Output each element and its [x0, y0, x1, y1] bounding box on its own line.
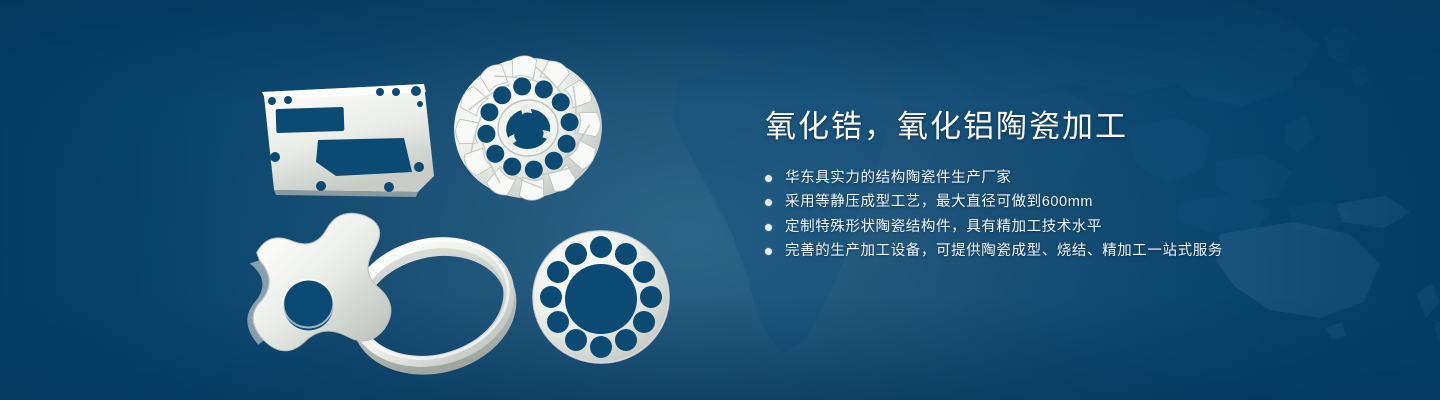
- product-ceramic-plate: [262, 84, 434, 197]
- bullet-dot-icon: [765, 175, 772, 182]
- bullet-dot-icon: [765, 199, 772, 206]
- list-item: 华东具实力的结构陶瓷件生产厂家: [765, 171, 1385, 186]
- product-ceramic-hole-ring: [533, 231, 669, 363]
- banner-copy: 氧化锆，氧化铝陶瓷加工 华东具实力的结构陶瓷件生产厂家 采用等静压成型工艺，最大…: [765, 108, 1385, 269]
- feature-text: 采用等静压成型工艺，最大直径可做到600mm: [785, 195, 1093, 210]
- list-item: 完善的生产加工设备，可提供陶瓷成型、烧结、精加工一站式服务: [765, 244, 1385, 259]
- bullet-dot-icon: [765, 248, 772, 255]
- ceramic-product-collage: [0, 0, 720, 400]
- ceramic-products-banner: 氧化锆，氧化铝陶瓷加工 华东具实力的结构陶瓷件生产厂家 采用等静压成型工艺，最大…: [0, 0, 1440, 400]
- feature-text: 定制特殊形状陶瓷结构件，具有精加工技术水平: [785, 220, 1102, 235]
- feature-text: 完善的生产加工设备，可提供陶瓷成型、烧结、精加工一站式服务: [785, 244, 1223, 259]
- product-ceramic-cross-plate: [237, 210, 394, 354]
- feature-text: 华东具实力的结构陶瓷件生产厂家: [785, 171, 1012, 186]
- product-ceramic-impeller: [445, 46, 612, 210]
- list-item: 定制特殊形状陶瓷结构件，具有精加工技术水平: [765, 220, 1385, 235]
- bullet-dot-icon: [765, 224, 772, 231]
- list-item: 采用等静压成型工艺，最大直径可做到600mm: [765, 195, 1385, 210]
- page-title: 氧化锆，氧化铝陶瓷加工: [765, 108, 1385, 147]
- feature-list: 华东具实力的结构陶瓷件生产厂家 采用等静压成型工艺，最大直径可做到600mm 定…: [765, 171, 1385, 259]
